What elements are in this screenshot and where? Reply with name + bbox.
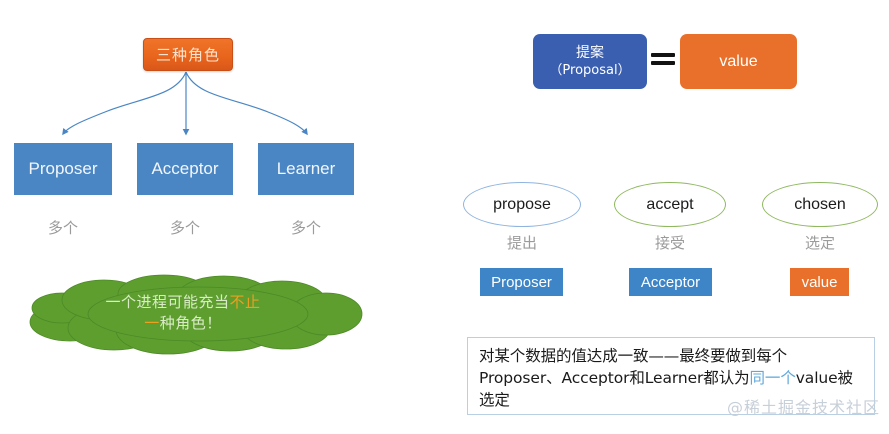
count-label-acceptor: 多个 — [137, 217, 233, 237]
role-label-learner: Learner — [277, 159, 336, 179]
cloud-line1-pre: 一个进程可能充当 — [105, 293, 229, 311]
count-label-proposer: 多个 — [14, 217, 112, 237]
stage-ellipse-label-propose: propose — [493, 196, 551, 214]
stage-ellipse-chosen[interactable]: chosen — [762, 182, 878, 227]
stage-ellipse-label-chosen: chosen — [794, 196, 846, 214]
cloud-text: 一个进程可能充当不止 一种角色！ — [18, 292, 348, 334]
cloud-line2-post: 种角色！ — [160, 314, 222, 332]
stage-tag-value[interactable]: value — [790, 268, 849, 296]
stage-tag-proposer[interactable]: Proposer — [480, 268, 563, 296]
role-label-acceptor: Acceptor — [151, 159, 218, 179]
stage-ellipse-label-accept: accept — [646, 196, 693, 214]
role-root-label: 三种角色 — [156, 44, 220, 65]
role-label-proposer: Proposer — [29, 159, 98, 179]
cloud-callout: 一个进程可能充当不止 一种角色！ — [18, 272, 368, 356]
stage-cn-accept: 接受 — [614, 231, 726, 253]
stage-ellipse-propose[interactable]: propose — [463, 182, 581, 227]
equals-icon — [651, 53, 675, 69]
role-box-proposer[interactable]: Proposer — [14, 143, 112, 195]
summary-note-text: 对某个数据的值达成一致——最终要做到每个Proposer、Acceptor和Le… — [479, 345, 864, 411]
stage-tag-label-proposer: Proposer — [491, 274, 552, 291]
role-box-acceptor[interactable]: Acceptor — [137, 143, 233, 195]
note-segment-highlight: 同一个 — [750, 369, 796, 387]
cloud-text-line2: 一种角色！ — [18, 313, 348, 334]
equals-bar-bottom — [651, 61, 675, 65]
stage-tag-acceptor[interactable]: Acceptor — [629, 268, 712, 296]
summary-note-box: 对某个数据的值达成一致——最终要做到每个Proposer、Acceptor和Le… — [467, 337, 875, 415]
count-label-learner: 多个 — [258, 217, 354, 237]
proposal-label-en: （Proposal） — [549, 62, 630, 79]
stage-tag-label-value: value — [802, 274, 838, 291]
slide-canvas: 三种角色 Proposer Acceptor Learner 多个 多个 多个 — [0, 0, 889, 434]
cloud-line2-highlight: 一 — [144, 314, 160, 332]
role-box-learner[interactable]: Learner — [258, 143, 354, 195]
cloud-text-line1: 一个进程可能充当不止 — [18, 292, 348, 313]
role-root-box[interactable]: 三种角色 — [143, 38, 233, 71]
stage-cn-chosen: 选定 — [762, 231, 878, 253]
cloud-line1-highlight: 不止 — [230, 293, 261, 311]
note-segment-1: 对某个数据的值达成一致——最终要做到每个 — [479, 347, 787, 365]
note-segment-2: Proposer、Acceptor和Learner都认为 — [479, 369, 750, 387]
equals-bar-top — [651, 53, 675, 57]
proposal-box[interactable]: 提案 （Proposal） — [533, 34, 647, 89]
stage-ellipse-accept[interactable]: accept — [614, 182, 726, 227]
proposal-label-cn: 提案 — [576, 45, 604, 62]
value-box-label: value — [719, 53, 757, 71]
value-box[interactable]: value — [680, 34, 797, 89]
stage-tag-label-acceptor: Acceptor — [641, 274, 700, 291]
stage-cn-propose: 提出 — [463, 231, 581, 253]
